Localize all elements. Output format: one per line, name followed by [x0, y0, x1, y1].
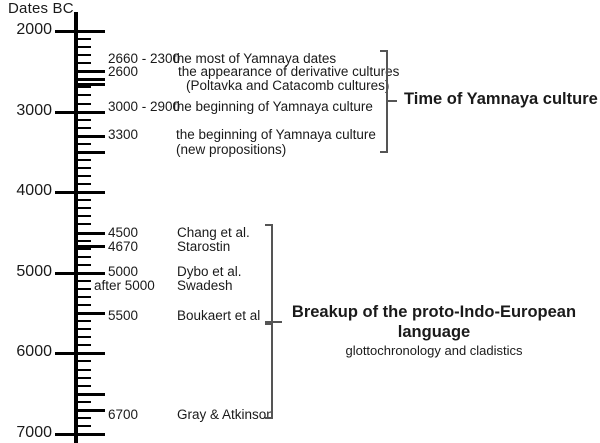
axis-tick-minor — [78, 119, 91, 121]
entry-date: 2600 — [108, 64, 138, 79]
entry-date: after 5000 — [94, 278, 155, 293]
axis-connector-4670 — [78, 245, 105, 248]
axis-tick-minor — [78, 288, 91, 290]
axis-tick-minor — [78, 401, 91, 403]
entry-date: 6700 — [108, 407, 138, 422]
axis-tick-minor — [78, 62, 91, 64]
caption-line-1: Breakup of the proto-Indo-European — [286, 302, 582, 322]
axis-tick-minor — [78, 159, 91, 161]
axis-tick-minor — [78, 256, 91, 258]
axis-tick-minor — [78, 417, 91, 419]
bracket-stub — [388, 100, 397, 102]
axis-tick-minor — [78, 167, 91, 169]
bracket-pie-lower — [265, 323, 282, 419]
entry-description: (new propositions) — [176, 142, 286, 157]
entry-date: 5000 — [108, 264, 138, 279]
axis-connector-6700 — [78, 409, 105, 412]
axis-label-leader-5000 — [57, 272, 75, 275]
bracket-arm-bottom — [380, 151, 388, 153]
axis-connector-4500 — [78, 232, 105, 235]
bracket-vertical-bar — [271, 323, 273, 419]
axis-label-5000: 5000 — [0, 263, 52, 281]
axis-tick-minor — [78, 207, 91, 209]
axis-label-4000: 4000 — [0, 182, 52, 200]
entry-description: Starostin — [177, 239, 230, 254]
axis-tick-minor — [78, 425, 91, 427]
axis-tick-minor — [78, 175, 91, 177]
axis-label-leader-7000 — [57, 433, 75, 436]
bracket-pie-upper — [265, 224, 282, 323]
entry-description: the appearance of derivative cultures — [178, 64, 399, 79]
axis-tick-minor — [78, 86, 91, 88]
axis-tick-minor — [78, 223, 91, 225]
axis-tick-minor — [78, 54, 91, 56]
axis-tick-minor — [78, 336, 91, 338]
axis-tick-minor — [78, 320, 91, 322]
axis-tick-minor — [78, 94, 91, 96]
axis-tick-minor — [78, 46, 91, 48]
axis-tick-minor — [78, 360, 91, 362]
entry-description: Chang et al. — [177, 225, 250, 240]
entry-description: Swadesh — [177, 278, 233, 293]
axis-tick-minor — [78, 143, 91, 145]
bracket-yamnaya — [380, 50, 397, 153]
entry-description: the beginning of Yamnaya culture — [176, 127, 376, 142]
axis-tick-minor — [78, 38, 91, 40]
axis-tick-minor — [78, 240, 91, 242]
caption-breakup-of-pie: Breakup of the proto-Indo-European langu… — [286, 302, 582, 360]
bracket-vertical-bar — [271, 224, 273, 323]
axis-tick-minor — [78, 127, 91, 129]
caption-time-of-yamnaya-culture: Time of Yamnaya culture — [404, 90, 598, 109]
axis-connector-2600 — [78, 78, 105, 81]
entry-date: 5500 — [108, 308, 138, 323]
entry-description: Gray & Atkinson — [177, 407, 274, 422]
axis-tick-minor — [78, 369, 91, 371]
axis-tick-minor — [78, 296, 91, 298]
timeline-diagram: Dates BC 200030004000500060007000 2660 -… — [0, 0, 600, 443]
axis-label-leader-4000 — [57, 191, 75, 194]
axis-tick-minor — [78, 280, 91, 282]
axis-label-7000: 7000 — [0, 424, 52, 442]
axis-tick-medium — [78, 393, 105, 396]
axis-label-2000: 2000 — [0, 21, 52, 39]
bracket-arm-bottom — [265, 417, 273, 419]
axis-tick-minor — [78, 183, 91, 185]
axis-label-3000: 3000 — [0, 102, 52, 120]
axis-label-leader-6000 — [57, 352, 75, 355]
axis-tick-minor — [78, 264, 91, 266]
caption-subtitle: glottochronology and cladistics — [286, 342, 582, 360]
entry-date: 4500 — [108, 225, 138, 240]
axis-label-leader-2000 — [57, 30, 75, 33]
axis-tick-minor — [78, 328, 91, 330]
axis-tick-medium — [78, 70, 105, 73]
entry-description: the beginning of Yamnaya culture — [173, 99, 373, 114]
axis-tick-minor — [78, 385, 91, 387]
axis-tick-minor — [78, 344, 91, 346]
axis-connector-3300 — [78, 135, 105, 138]
axis-tick-minor — [78, 215, 91, 217]
entry-date: 4670 — [108, 239, 138, 254]
axis-connector-2660 — [78, 83, 105, 86]
entry-description: Dybo et al. — [177, 264, 242, 279]
axis-connector-5500 — [78, 312, 105, 315]
axis-tick-minor — [78, 103, 91, 105]
axis-label-6000: 6000 — [0, 343, 52, 361]
axis-tick-minor — [78, 304, 91, 306]
axis-header: Dates BC — [8, 0, 74, 17]
axis-tick-minor — [78, 199, 91, 201]
entry-date: 3300 — [108, 127, 138, 142]
axis-tick-medium — [78, 151, 105, 154]
entry-date: 3000 - 2900 — [108, 99, 180, 114]
axis-label-leader-3000 — [57, 111, 75, 114]
axis-tick-minor — [78, 377, 91, 379]
caption-line-2: language — [286, 322, 582, 342]
entry-description: (Poltavka and Catacomb cultures) — [186, 78, 389, 93]
entry-description: Boukaert et al — [177, 308, 260, 323]
